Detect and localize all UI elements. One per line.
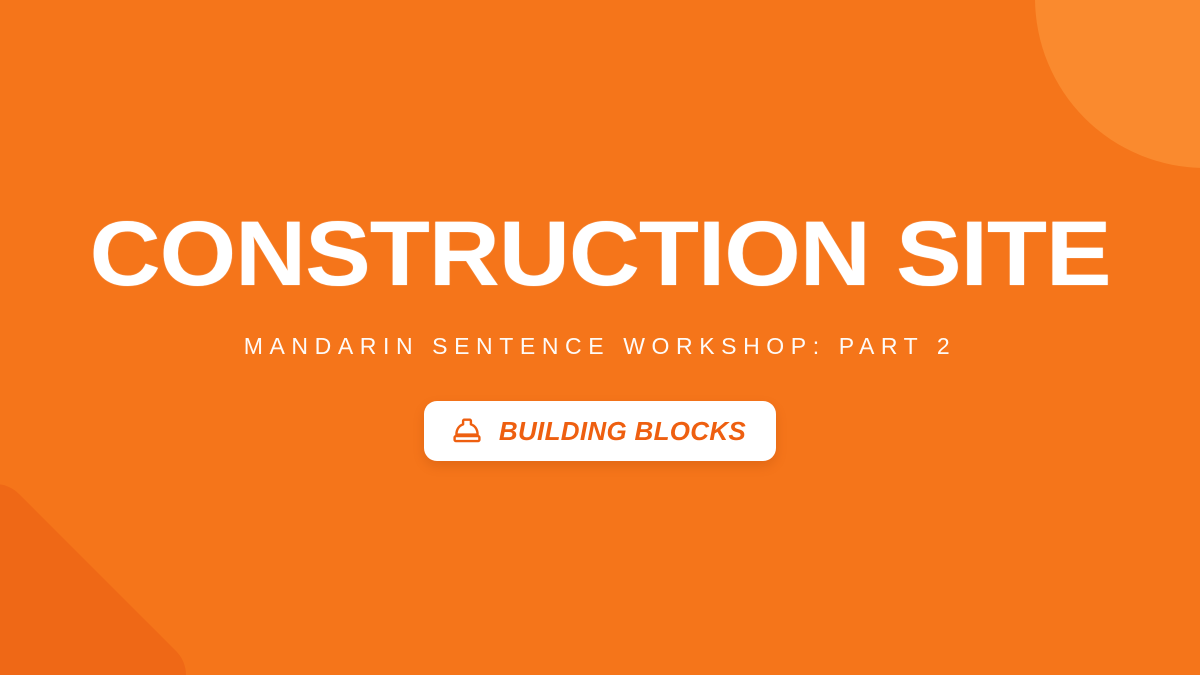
building-blocks-badge[interactable]: BUILDING BLOCKS <box>424 401 776 461</box>
badge-label: BUILDING BLOCKS <box>499 418 746 444</box>
slide-subtitle: MANDARIN SENTENCE WORKSHOP: PART 2 <box>244 335 957 358</box>
hard-hat-icon <box>451 415 483 447</box>
slide-content: CONSTRUCTION SITE MANDARIN SENTENCE WORK… <box>0 0 1200 675</box>
slide-canvas: CONSTRUCTION SITE MANDARIN SENTENCE WORK… <box>0 0 1200 675</box>
slide-title: CONSTRUCTION SITE <box>90 208 1111 300</box>
